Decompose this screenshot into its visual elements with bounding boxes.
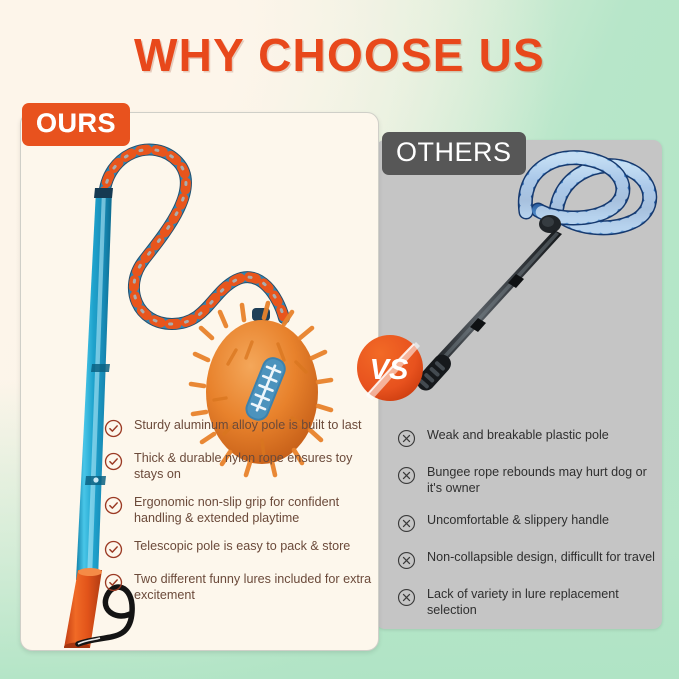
x-circle-icon	[397, 429, 416, 448]
check-circle-icon	[104, 540, 123, 559]
list-item-label: Uncomfortable & slippery handle	[427, 513, 609, 529]
check-circle-icon	[104, 452, 123, 471]
list-item: Ergonomic non-slip grip for confident ha…	[104, 495, 372, 526]
list-item-label: Lack of variety in lure replacement sele…	[427, 587, 655, 618]
list-item: Lack of variety in lure replacement sele…	[397, 587, 655, 618]
page-title: WHY CHOOSE US	[0, 28, 679, 82]
list-item: Sturdy aluminum alloy pole is built to l…	[104, 418, 372, 438]
ours-feature-list: Sturdy aluminum alloy pole is built to l…	[104, 418, 372, 616]
check-circle-icon	[104, 573, 123, 592]
list-item: Weak and breakable plastic pole	[397, 428, 655, 448]
list-item: Thick & durable nylon rope ensures toy s…	[104, 451, 372, 482]
list-item: Two different funny lures included for e…	[104, 572, 372, 603]
x-circle-icon	[397, 466, 416, 485]
list-item: Telescopic pole is easy to pack & store	[104, 539, 372, 559]
ours-badge-label: OURS	[36, 110, 116, 137]
check-circle-icon	[104, 496, 123, 515]
x-circle-icon	[397, 551, 416, 570]
others-product-image	[404, 146, 660, 396]
list-item-label: Weak and breakable plastic pole	[427, 428, 609, 444]
others-feature-list: Weak and breakable plastic pole Bungee r…	[397, 428, 655, 635]
list-item: Uncomfortable & slippery handle	[397, 513, 655, 533]
list-item-label: Non-collapsible design, difficullt for t…	[427, 550, 655, 566]
list-item-label: Sturdy aluminum alloy pole is built to l…	[134, 418, 362, 434]
x-circle-icon	[397, 514, 416, 533]
list-item-label: Ergonomic non-slip grip for confident ha…	[134, 495, 372, 526]
list-item-label: Two different funny lures included for e…	[134, 572, 372, 603]
list-item: Bungee rope rebounds may hurt dog or it'…	[397, 465, 655, 496]
others-badge: OTHERS	[382, 132, 526, 175]
list-item-label: Thick & durable nylon rope ensures toy s…	[134, 451, 372, 482]
list-item-label: Telescopic pole is easy to pack & store	[134, 539, 350, 555]
list-item: Non-collapsible design, difficullt for t…	[397, 550, 655, 570]
ours-badge: OURS	[22, 103, 130, 146]
x-circle-icon	[397, 588, 416, 607]
list-item-label: Bungee rope rebounds may hurt dog or it'…	[427, 465, 655, 496]
vs-emblem: VS	[356, 334, 424, 402]
others-badge-label: OTHERS	[396, 137, 512, 167]
vs-label: VS	[370, 354, 409, 386]
check-circle-icon	[104, 419, 123, 438]
